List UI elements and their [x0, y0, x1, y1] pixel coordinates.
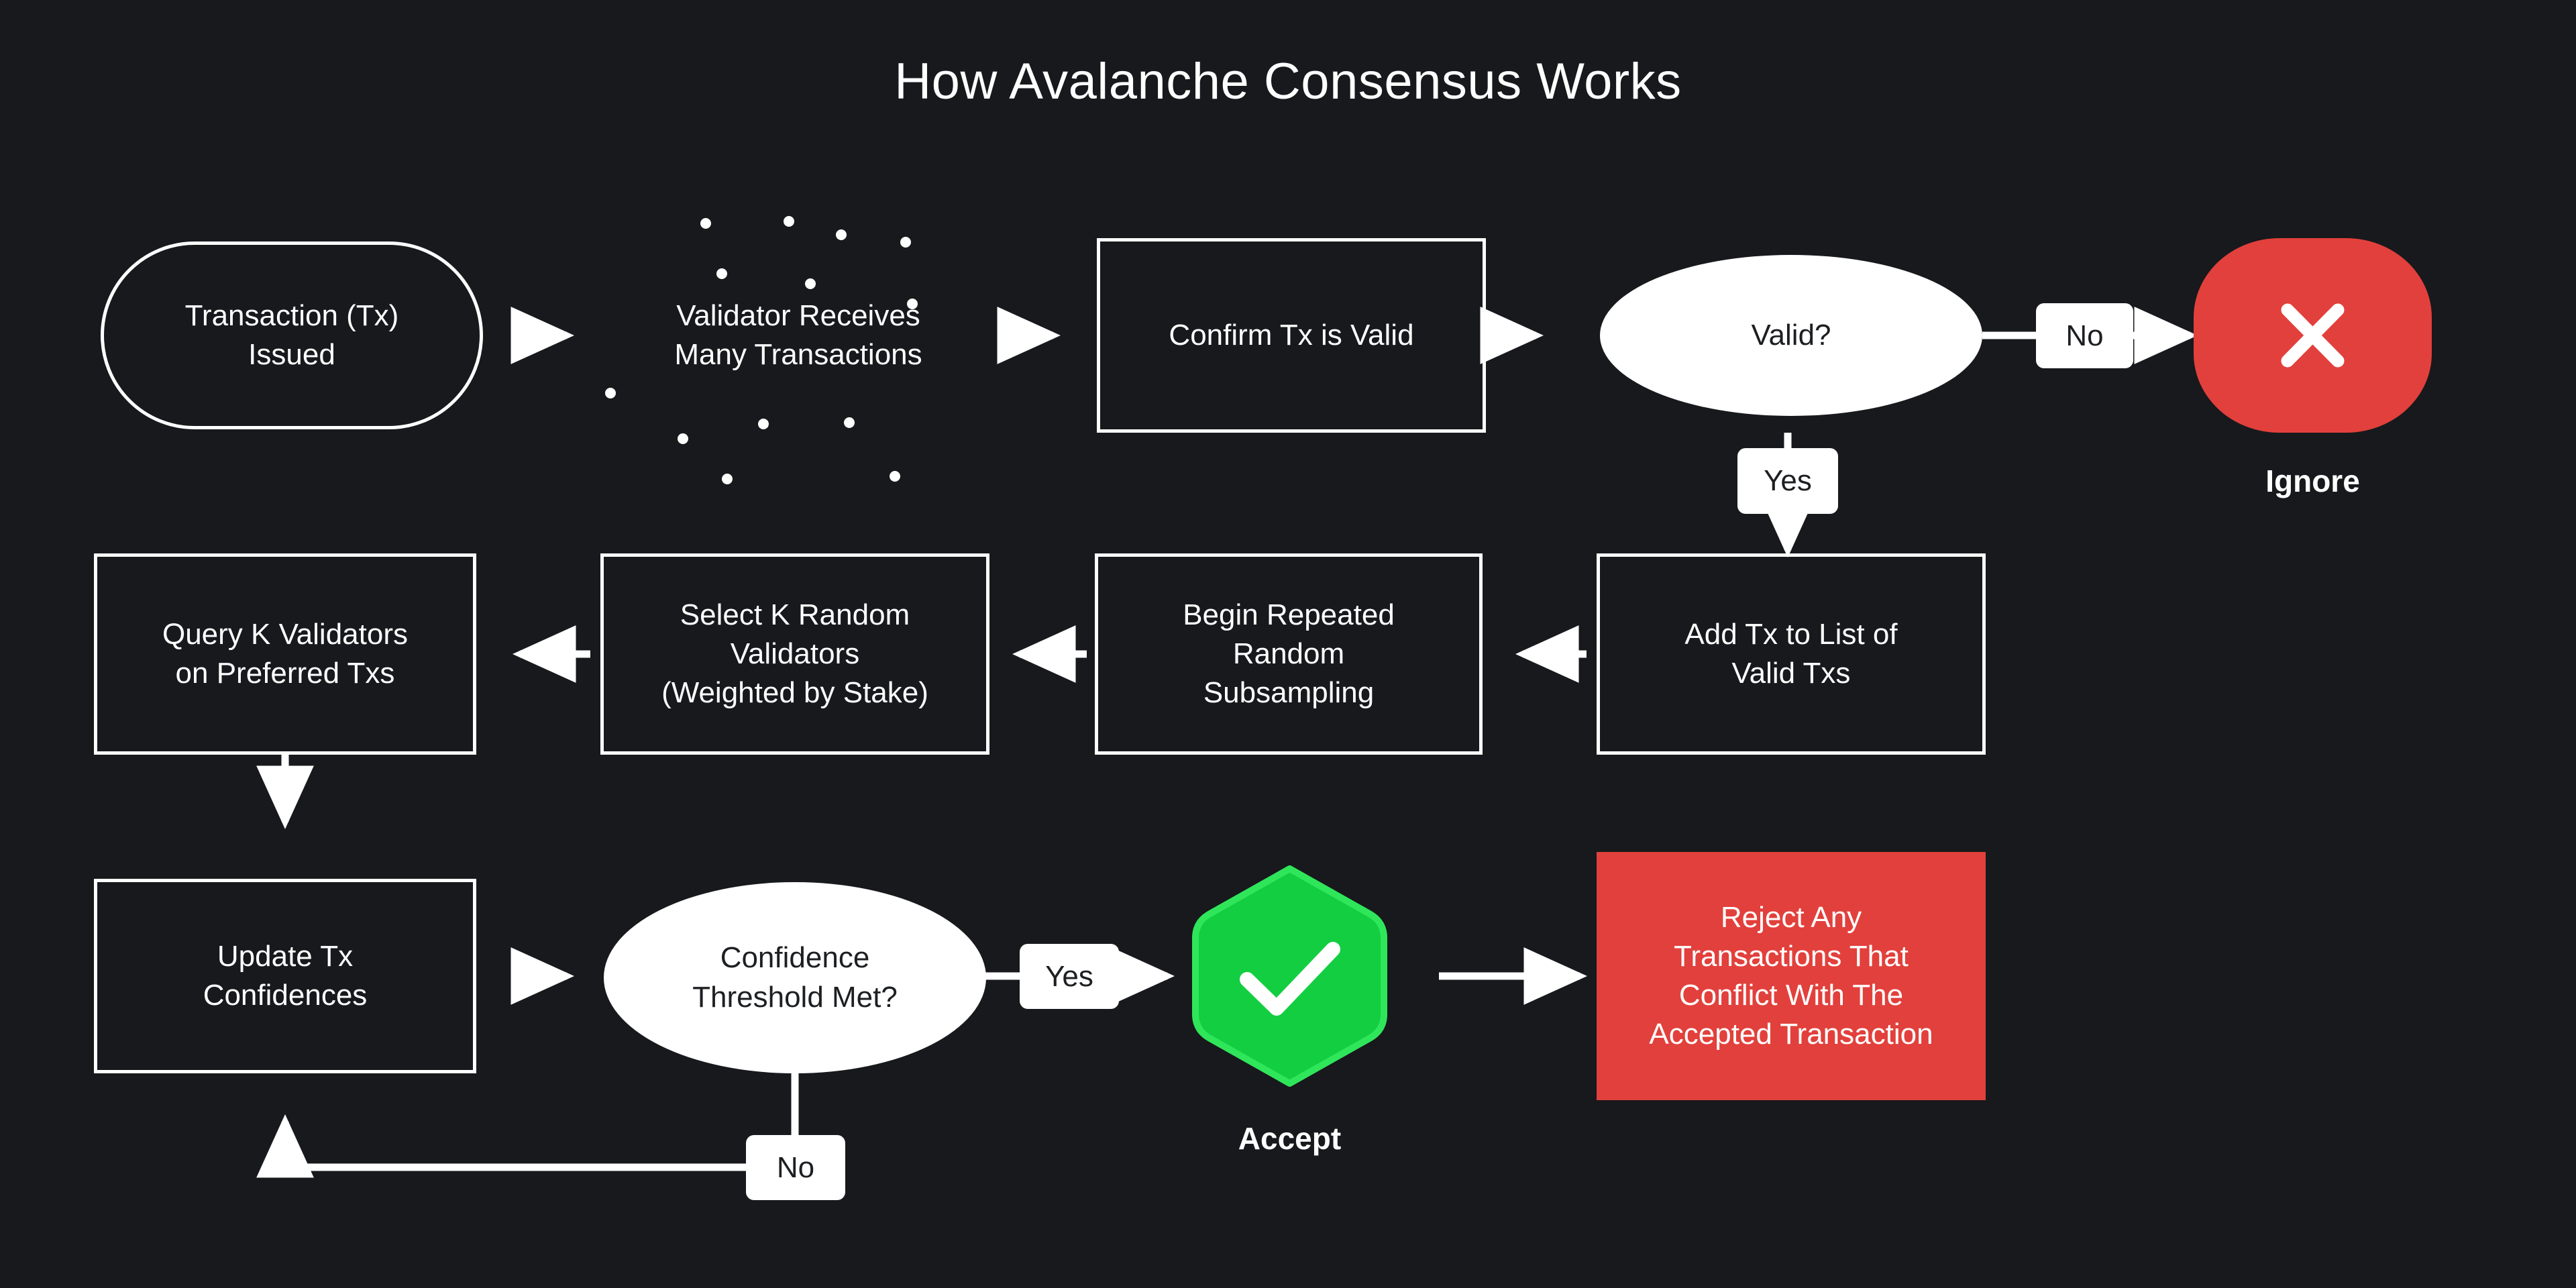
edge-label-valid-yes-text: Yes: [1764, 464, 1812, 498]
node-query-k-validators-line1: Query K Validators: [162, 615, 408, 654]
node-validator-receives-line1: Validator Receives: [676, 297, 920, 335]
node-select-k-random[interactable]: Select K Random Validators (Weighted by …: [600, 553, 989, 755]
edge-label-confidence-no: No: [746, 1135, 845, 1200]
node-select-k-random-line3: (Weighted by Stake): [661, 674, 928, 712]
node-validator-receives-line2: Many Transactions: [674, 335, 922, 374]
node-begin-subsampling-line1: Begin Repeated: [1183, 596, 1395, 635]
node-reject-conflicts-line2: Transactions That: [1674, 937, 1909, 976]
edge-label-valid-no: No: [2036, 303, 2133, 368]
page-title: How Avalanche Consensus Works: [0, 52, 2576, 111]
node-validator-receives[interactable]: Validator Receives Many Transactions: [590, 272, 1006, 399]
arrow-no-loopback-to-update: [285, 1122, 748, 1167]
node-valid-question[interactable]: Valid?: [1600, 255, 1982, 416]
node-update-tx-confidences-line1: Update Tx: [217, 937, 353, 976]
node-select-k-random-line1: Select K Random: [680, 596, 910, 635]
node-reject-conflicts-line3: Conflict With The: [1679, 976, 1903, 1015]
node-confidence-threshold-line2: Threshold Met?: [692, 978, 898, 1017]
node-ignore[interactable]: [2194, 238, 2432, 433]
node-valid-question-label: Valid?: [1751, 316, 1831, 355]
node-add-tx-to-list-line2: Valid Txs: [1732, 654, 1851, 693]
node-transaction-issued-line2: Issued: [248, 335, 335, 374]
node-confidence-threshold-line1: Confidence: [720, 938, 870, 977]
node-update-tx-confidences[interactable]: Update Tx Confidences: [94, 879, 476, 1073]
node-confirm-tx-valid[interactable]: Confirm Tx is Valid: [1097, 238, 1486, 433]
node-begin-subsampling-line3: Subsampling: [1203, 674, 1374, 712]
node-begin-subsampling-line2: Random: [1233, 635, 1344, 674]
node-add-tx-to-list[interactable]: Add Tx to List of Valid Txs: [1597, 553, 1986, 755]
node-select-k-random-line2: Validators: [731, 635, 859, 674]
node-add-tx-to-list-line1: Add Tx to List of: [1684, 615, 1897, 654]
node-accept[interactable]: [1177, 862, 1402, 1090]
check-mark-icon: [1177, 862, 1402, 1090]
node-query-k-validators-line2: on Preferred Txs: [176, 654, 395, 693]
node-accept-caption: Accept: [1177, 1120, 1402, 1157]
node-confirm-tx-valid-label: Confirm Tx is Valid: [1169, 316, 1413, 355]
x-mark-icon: [2194, 238, 2432, 433]
flowchart-canvas: How Avalanche Consensus Works: [0, 0, 2576, 1288]
node-begin-subsampling[interactable]: Begin Repeated Random Subsampling: [1095, 553, 1483, 755]
edge-label-confidence-yes-text: Yes: [1045, 960, 1093, 994]
node-confidence-threshold-question[interactable]: Confidence Threshold Met?: [604, 882, 986, 1073]
edge-label-confidence-no-text: No: [777, 1151, 814, 1185]
edge-label-valid-no-text: No: [2065, 319, 2103, 353]
edge-label-valid-yes: Yes: [1737, 448, 1838, 514]
edge-label-confidence-yes: Yes: [1020, 944, 1119, 1009]
node-ignore-caption: Ignore: [2194, 463, 2432, 499]
node-reject-conflicts-line1: Reject Any: [1721, 898, 1862, 937]
node-transaction-issued-line1: Transaction (Tx): [185, 297, 399, 335]
node-query-k-validators[interactable]: Query K Validators on Preferred Txs: [94, 553, 476, 755]
node-update-tx-confidences-line2: Confidences: [203, 976, 368, 1015]
node-reject-conflicts[interactable]: Reject Any Transactions That Conflict Wi…: [1597, 852, 1986, 1100]
node-reject-conflicts-line4: Accepted Transaction: [1649, 1015, 1933, 1054]
node-transaction-issued[interactable]: Transaction (Tx) Issued: [101, 241, 483, 429]
